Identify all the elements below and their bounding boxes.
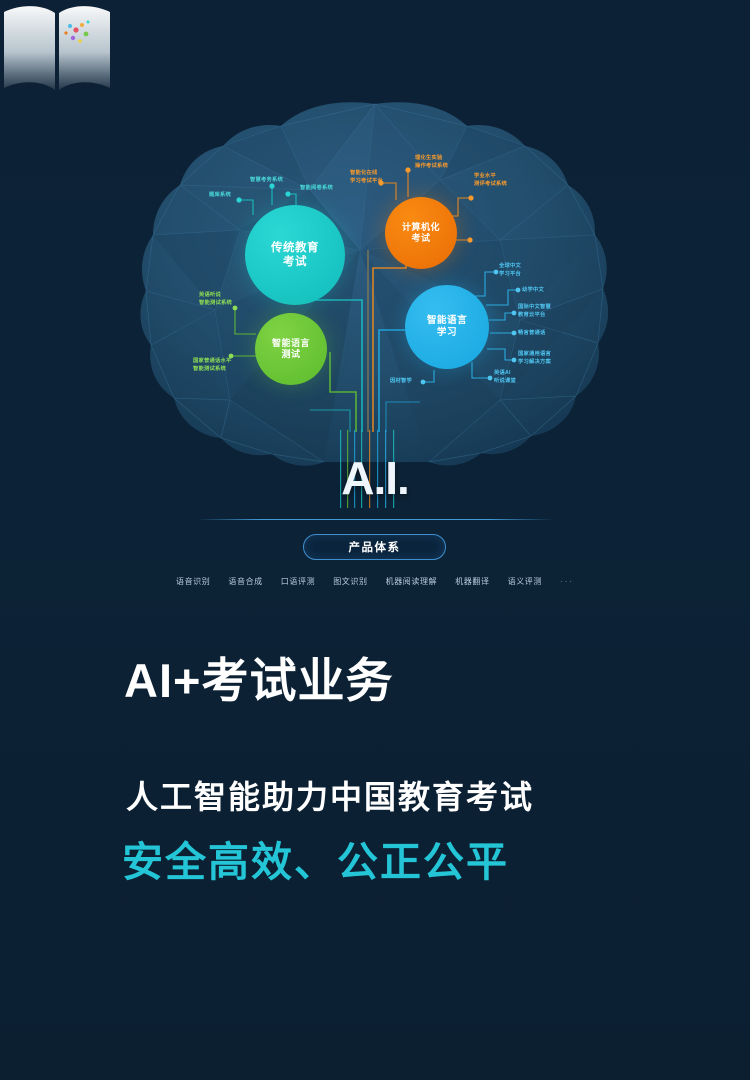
leaf-label-computerized-1: 理化生实验 操作考试系统 xyxy=(415,155,448,170)
leaf-label-smartlearn-0: 全球中文 学习平台 xyxy=(499,263,521,278)
leaf-label-smarttest-1: 国家普通话水平 智能测试系统 xyxy=(193,358,231,373)
keyword-2: 口语评测 xyxy=(281,576,315,587)
open-book-icon xyxy=(0,0,114,92)
keyword-0: 语音识别 xyxy=(176,576,210,587)
leaf-text: 全球中文 xyxy=(499,263,521,271)
leaf-text: 英语听说 xyxy=(199,292,232,300)
leaf-label-smartlearn-3: 畅言普通话 xyxy=(518,330,546,338)
keyword-ellipsis: ··· xyxy=(560,577,574,586)
leaf-label-computerized-0: 智能化在线 学习考试平台 xyxy=(350,170,383,185)
leaf-label-smartlearn-4: 国家通用语言 学习解决方案 xyxy=(518,351,551,366)
promo-page: A.I. 传统教育 考试 计算机化 考试 智能语言 学习 智能语言 测试 智慧考… xyxy=(0,0,750,1080)
leaf-text: 听说课堂 xyxy=(494,378,516,386)
keyword-5: 机器翻译 xyxy=(455,576,489,587)
keyword-1: 语音合成 xyxy=(228,576,262,587)
node-smarttest-label-1: 智能语言 xyxy=(272,338,310,349)
brain-and-branches-svg xyxy=(0,0,750,620)
leaf-label-traditional-1: 智能阅卷系统 xyxy=(300,185,333,193)
node-smartlearn-label-1: 智能语言 xyxy=(427,315,467,327)
leaf-text: 题库系统 xyxy=(209,192,231,200)
leaf-text: 智能阅卷系统 xyxy=(300,185,333,193)
leaf-label-smarttest-0: 英语听说 智能测试系统 xyxy=(199,292,232,307)
node-computerized-exam[interactable]: 计算机化 考试 xyxy=(385,197,457,269)
hero-subtitle: 人工智能助力中国教育考试 xyxy=(0,778,750,816)
hero-title: AI+考试业务 xyxy=(0,655,750,707)
leaf-text: 教育云平台 xyxy=(518,312,551,320)
hero-slogan: 安全高效、公正公平 xyxy=(0,838,750,887)
product-system-pill[interactable]: 产品体系 xyxy=(303,534,446,560)
leaf-label-traditional-2: 题库系统 xyxy=(209,192,231,200)
leaf-text: 智能化在线 xyxy=(350,170,383,178)
leaf-label-smartlearn-1: 幼学中文 xyxy=(522,287,544,295)
leaf-text: 畅言普通话 xyxy=(518,330,546,338)
leaf-text: 幼学中文 xyxy=(522,287,544,295)
leaf-text: 操作考试系统 xyxy=(415,163,448,171)
leaf-text: 国际中文智慧 xyxy=(518,304,551,312)
node-traditional-label-1: 传统教育 xyxy=(271,241,319,255)
leaf-text: 理化生实验 xyxy=(415,155,448,163)
keyword-6: 语义评测 xyxy=(508,576,542,587)
keyword-4: 机器阅读理解 xyxy=(386,576,438,587)
leaf-text: 学习平台 xyxy=(499,271,521,279)
leaf-text: 测评考试系统 xyxy=(474,181,507,189)
leaf-text: 智能测试系统 xyxy=(193,366,231,374)
leaf-text: 英语AI xyxy=(494,370,516,378)
keyword-3: 图文识别 xyxy=(333,576,367,587)
leaf-text: 国家普通话水平 xyxy=(193,358,231,366)
leaf-text: 学习解决方案 xyxy=(518,359,551,367)
node-smartlearn-label-2: 学习 xyxy=(437,327,457,339)
baseline-divider xyxy=(196,519,554,520)
node-traditional-education[interactable]: 传统教育 考试 xyxy=(245,205,345,305)
node-smarttest-label-2: 测试 xyxy=(281,349,300,360)
leaf-label-traditional-0: 智慧考务系统 xyxy=(250,177,283,185)
node-traditional-label-2: 考试 xyxy=(283,255,307,269)
node-smart-language-test[interactable]: 智能语言 测试 xyxy=(255,313,327,385)
leaf-label-smartlearn-6: 因材智学 xyxy=(390,378,412,386)
leaf-text: 学习考试平台 xyxy=(350,178,383,186)
ai-logo-text: A.I. xyxy=(318,448,432,508)
leaf-text: 因材智学 xyxy=(390,378,412,386)
node-computerized-label-2: 考试 xyxy=(411,233,430,244)
brain-silhouette xyxy=(140,102,608,465)
capability-keyword-row: 语音识别 语音合成 口语评测 图文识别 机器阅读理解 机器翻译 语义评测 ··· xyxy=(0,576,750,587)
infographic-brain-tree: A.I. 传统教育 考试 计算机化 考试 智能语言 学习 智能语言 测试 智慧考… xyxy=(0,0,750,620)
leaf-label-computerized-2: 学业水平 测评考试系统 xyxy=(474,173,507,188)
leaf-label-smartlearn-2: 国际中文智慧 教育云平台 xyxy=(518,304,551,319)
node-smart-language-learning[interactable]: 智能语言 学习 xyxy=(405,285,489,369)
leaf-text: 智能测试系统 xyxy=(199,300,232,308)
leaf-text: 学业水平 xyxy=(474,173,507,181)
hero-section: AI+考试业务 人工智能助力中国教育考试 安全高效、公正公平 xyxy=(0,655,750,887)
leaf-text: 智慧考务系统 xyxy=(250,177,283,185)
node-computerized-label-1: 计算机化 xyxy=(402,222,440,233)
leaf-label-smartlearn-5: 英语AI 听说课堂 xyxy=(494,370,516,385)
leaf-text: 国家通用语言 xyxy=(518,351,551,359)
